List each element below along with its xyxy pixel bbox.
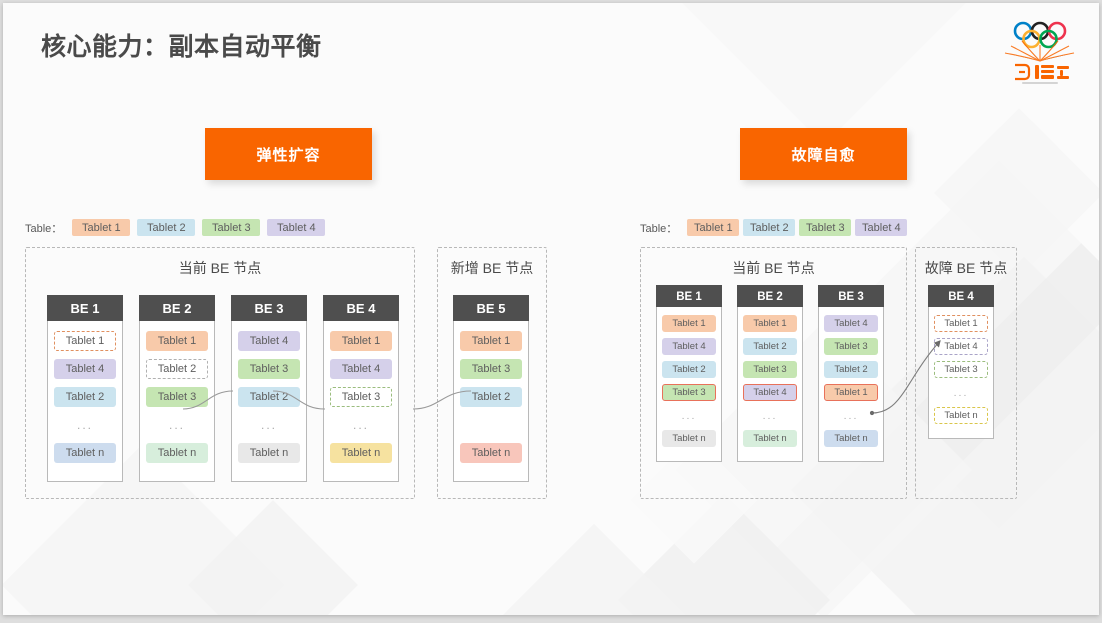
tablet-chip[interactable]: Tablet 4: [662, 338, 716, 355]
ellipsis: ...: [238, 415, 300, 435]
tablet-chip[interactable]: Tablet 2: [662, 361, 716, 378]
tablet-chip[interactable]: Tablet 1: [460, 331, 522, 351]
ellipsis: ...: [146, 415, 208, 435]
banner-fault-self-healing[interactable]: 故障自愈: [740, 128, 907, 180]
be-node-body: Tablet 1Tablet 4Tablet 3...Tablet n: [323, 321, 399, 482]
be-node-header: BE 4: [323, 295, 399, 321]
left-diagram-panel: Table：Tablet 1Tablet 2Tablet 3Tablet 4 当…: [25, 219, 525, 499]
ellipsis: ...: [824, 407, 878, 424]
tablet-spacer: [460, 415, 522, 435]
be-node-header: BE 1: [656, 285, 722, 307]
be-node-header: BE 5: [453, 295, 529, 321]
tablet-chip[interactable]: Tablet 1: [662, 315, 716, 332]
legend-label: Table：: [640, 220, 677, 236]
be-node-header: BE 2: [139, 295, 215, 321]
group-title: 故障 BE 节点: [916, 258, 1016, 278]
be-node-body: Tablet 4Tablet 3Tablet 2Tablet 1...Table…: [818, 307, 884, 462]
be-node-header: BE 1: [47, 295, 123, 321]
tablet-chip[interactable]: Tablet 2: [460, 387, 522, 407]
legend-label: Table：: [25, 220, 62, 236]
tablet-chip[interactable]: Tablet n: [824, 430, 878, 447]
tablet-chip[interactable]: Tablet 4: [330, 359, 392, 379]
be-node-header: BE 3: [231, 295, 307, 321]
be-node[interactable]: BE 5Tablet 1Tablet 3Tablet 2Tablet n: [453, 295, 529, 482]
slide: 核心能力：副本自动平衡: [3, 3, 1099, 615]
be-node[interactable]: BE 1Tablet 1Tablet 4Tablet 2...Tablet n: [47, 295, 123, 482]
legend-chip: Tablet 2: [743, 219, 795, 236]
group-title: 当前 BE 节点: [26, 258, 414, 278]
banner-elastic-scaling[interactable]: 弹性扩容: [205, 128, 372, 180]
tablet-chip[interactable]: Tablet 3: [934, 361, 988, 378]
be-node-body: Tablet 1Tablet 3Tablet 2Tablet n: [453, 321, 529, 482]
tablet-chip[interactable]: Tablet n: [743, 430, 797, 447]
tablet-chip[interactable]: Tablet 4: [54, 359, 116, 379]
be-node[interactable]: BE 2Tablet 1Tablet 2Tablet 3...Tablet n: [139, 295, 215, 482]
legend-chip: Tablet 2: [137, 219, 195, 236]
legend-chip: Tablet 3: [799, 219, 851, 236]
group-title: 新增 BE 节点: [438, 258, 546, 278]
tablet-chip[interactable]: Tablet 3: [824, 338, 878, 355]
tablet-chip[interactable]: Tablet 3: [662, 384, 716, 401]
legend-chip: Tablet 4: [855, 219, 907, 236]
tablet-chip[interactable]: Tablet 3: [238, 359, 300, 379]
be-node-body: Tablet 4Tablet 3Tablet 2...Tablet n: [231, 321, 307, 482]
be-node-header: BE 4: [928, 285, 994, 307]
ellipsis: ...: [743, 407, 797, 424]
alibaba-cloud-olympics-logo: [997, 15, 1083, 85]
tablet-chip[interactable]: Tablet 3: [743, 361, 797, 378]
be-node[interactable]: BE 1Tablet 1Tablet 4Tablet 2Tablet 3...T…: [656, 285, 722, 462]
be-node[interactable]: BE 4Tablet 1Tablet 4Tablet 3...Tablet n: [323, 295, 399, 482]
tablet-chip[interactable]: Tablet 3: [146, 387, 208, 407]
tablet-chip[interactable]: Tablet n: [238, 443, 300, 463]
ellipsis: ...: [934, 384, 988, 401]
tablet-chip[interactable]: Tablet n: [934, 407, 988, 424]
tablet-chip[interactable]: Tablet 2: [824, 361, 878, 378]
be-node-header: BE 2: [737, 285, 803, 307]
tablet-chip[interactable]: Tablet 2: [238, 387, 300, 407]
ellipsis: ...: [330, 415, 392, 435]
be-node[interactable]: BE 4Tablet 1Tablet 4Tablet 3...Tablet n: [928, 285, 994, 439]
be-node-body: Tablet 1Tablet 2Tablet 3...Tablet n: [139, 321, 215, 482]
tablet-chip[interactable]: Tablet 2: [743, 338, 797, 355]
right-legend: Table：Tablet 1Tablet 2Tablet 3Tablet 4: [640, 219, 1070, 236]
be-node-header: BE 3: [818, 285, 884, 307]
tablet-chip[interactable]: Tablet n: [146, 443, 208, 463]
tablet-chip[interactable]: Tablet n: [54, 443, 116, 463]
ellipsis: ...: [662, 407, 716, 424]
tablet-chip[interactable]: Tablet 2: [54, 387, 116, 407]
tablet-chip[interactable]: Tablet 1: [743, 315, 797, 332]
legend-chip: Tablet 3: [202, 219, 260, 236]
tablet-chip[interactable]: Tablet 3: [460, 359, 522, 379]
legend-chip: Tablet 4: [267, 219, 325, 236]
tablet-chip[interactable]: Tablet 1: [146, 331, 208, 351]
tablet-chip[interactable]: Tablet 4: [824, 315, 878, 332]
be-node-body: Tablet 1Tablet 4Tablet 2...Tablet n: [47, 321, 123, 482]
tablet-chip[interactable]: Tablet n: [460, 443, 522, 463]
tablet-chip[interactable]: Tablet 2: [146, 359, 208, 379]
tablet-chip[interactable]: Tablet 3: [330, 387, 392, 407]
be-node[interactable]: BE 2Tablet 1Tablet 2Tablet 3Tablet 4...T…: [737, 285, 803, 462]
left-legend: Table：Tablet 1Tablet 2Tablet 3Tablet 4: [25, 219, 525, 236]
tablet-chip[interactable]: Tablet 4: [934, 338, 988, 355]
tablet-chip[interactable]: Tablet 1: [824, 384, 878, 401]
tablet-chip[interactable]: Tablet 1: [934, 315, 988, 332]
tablet-chip[interactable]: Tablet 4: [743, 384, 797, 401]
legend-chip: Tablet 1: [72, 219, 130, 236]
tablet-chip[interactable]: Tablet 1: [330, 331, 392, 351]
tablet-chip[interactable]: Tablet n: [662, 430, 716, 447]
be-node-body: Tablet 1Tablet 4Tablet 2Tablet 3...Table…: [656, 307, 722, 462]
be-node[interactable]: BE 3Tablet 4Tablet 3Tablet 2...Tablet n: [231, 295, 307, 482]
be-node-body: Tablet 1Tablet 4Tablet 3...Tablet n: [928, 307, 994, 439]
page-title: 核心能力：副本自动平衡: [41, 27, 322, 63]
ellipsis: ...: [54, 415, 116, 435]
legend-chip: Tablet 1: [687, 219, 739, 236]
be-node[interactable]: BE 3Tablet 4Tablet 3Tablet 2Tablet 1...T…: [818, 285, 884, 462]
tablet-chip[interactable]: Tablet 4: [238, 331, 300, 351]
right-diagram-panel: Table：Tablet 1Tablet 2Tablet 3Tablet 4 当…: [640, 219, 1070, 499]
tablet-chip[interactable]: Tablet 1: [54, 331, 116, 351]
group-title: 当前 BE 节点: [641, 258, 906, 278]
tablet-chip[interactable]: Tablet n: [330, 443, 392, 463]
be-node-body: Tablet 1Tablet 2Tablet 3Tablet 4...Table…: [737, 307, 803, 462]
